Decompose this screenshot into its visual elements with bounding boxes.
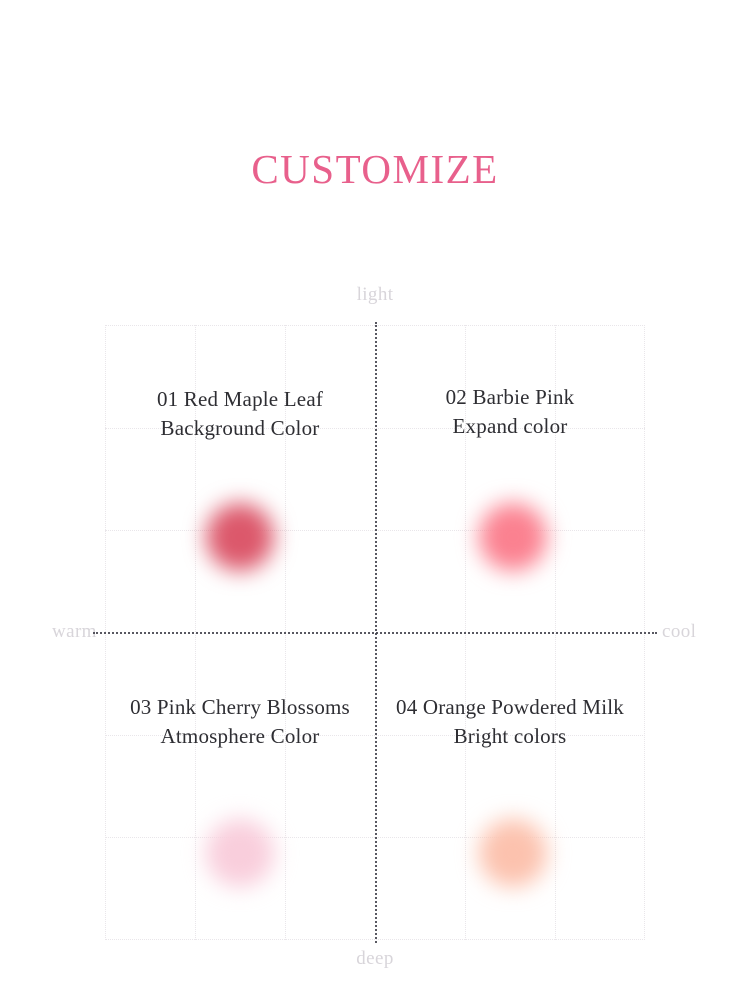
swatch-caption-02: 02 Barbie Pink Expand color <box>345 383 675 441</box>
swatch-cell-01[interactable]: 01 Red Maple Leaf Background Color <box>105 325 375 632</box>
swatch-cell-02[interactable]: 02 Barbie Pink Expand color <box>375 325 645 632</box>
swatch-circle-wrap-01 <box>182 479 298 595</box>
page-title: CUSTOMIZE <box>251 145 498 193</box>
swatch-caption-line-2: Bright colors <box>345 722 675 751</box>
color-matrix: 01 Red Maple Leaf Background Color 02 Ba… <box>105 325 645 940</box>
axis-label-warm: warm <box>52 621 97 643</box>
swatch-caption-04: 04 Orange Powdered Milk Bright colors <box>345 693 675 751</box>
swatch-circle-01 <box>206 503 274 571</box>
swatch-caption-line-2: Expand color <box>345 412 675 441</box>
axis-label-deep: deep <box>0 948 750 970</box>
swatch-circle-wrap-02 <box>455 479 571 595</box>
axis-label-cool: cool <box>662 621 696 643</box>
swatch-caption-line-1: 04 Orange Powdered Milk <box>345 693 675 722</box>
swatch-circle-wrap-04 <box>455 795 571 911</box>
title-block: CUSTOMIZE <box>0 118 750 221</box>
swatch-circle-03 <box>206 819 274 887</box>
swatch-cell-03[interactable]: 03 Pink Cherry Blossoms Atmosphere Color <box>105 633 375 940</box>
swatch-cell-04[interactable]: 04 Orange Powdered Milk Bright colors <box>375 633 645 940</box>
swatch-circle-wrap-03 <box>182 795 298 911</box>
swatch-circle-04 <box>479 819 547 887</box>
axis-label-light: light <box>0 284 750 306</box>
swatch-caption-line-1: 02 Barbie Pink <box>345 383 675 412</box>
swatch-circle-02 <box>479 503 547 571</box>
